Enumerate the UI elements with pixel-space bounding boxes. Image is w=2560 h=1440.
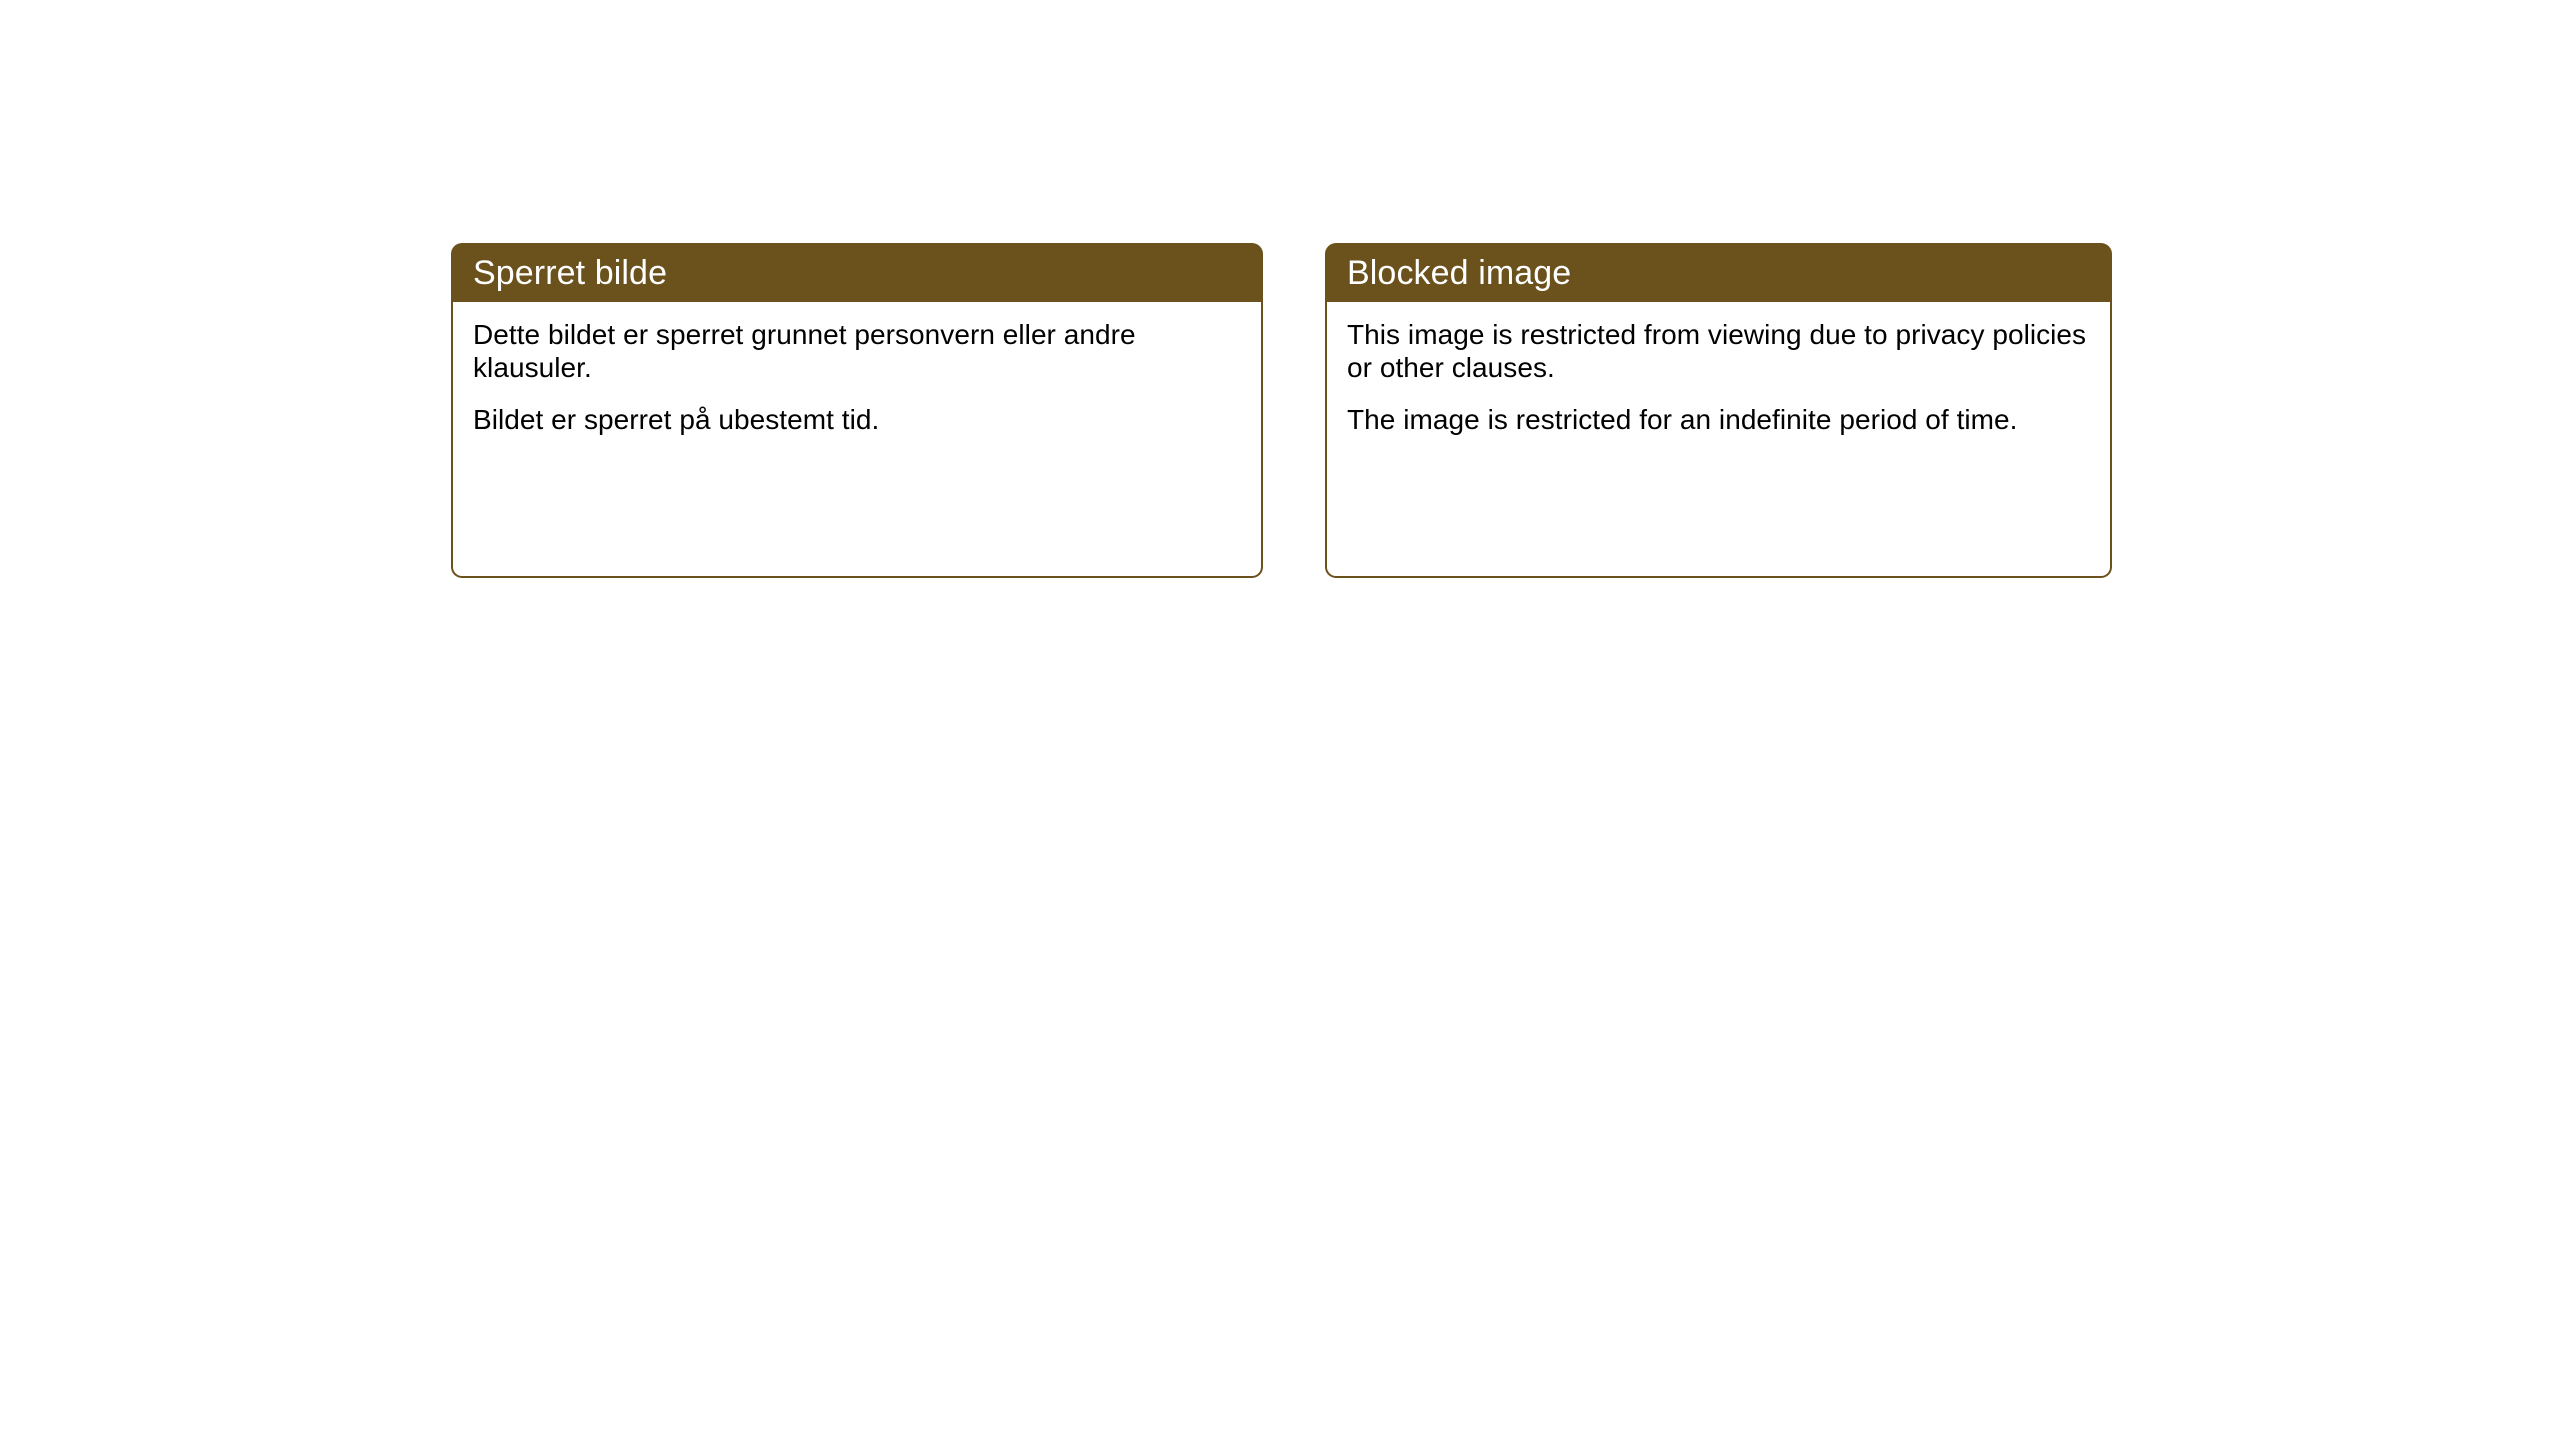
paragraph-spacer-english <box>1347 384 2090 403</box>
panel-body-english: This image is restricted from viewing du… <box>1325 302 2112 578</box>
panel-paragraph-norwegian-1: Dette bildet er sperret grunnet personve… <box>473 318 1241 384</box>
panel-paragraph-english-2: The image is restricted for an indefinit… <box>1347 403 2090 436</box>
panel-header-norwegian: Sperret bilde <box>451 243 1263 302</box>
blocked-image-panel-norwegian: Sperret bilde Dette bildet er sperret gr… <box>451 243 1263 578</box>
panel-paragraph-norwegian-2: Bildet er sperret på ubestemt tid. <box>473 403 1241 436</box>
panel-body-norwegian: Dette bildet er sperret grunnet personve… <box>451 302 1263 578</box>
paragraph-spacer-norwegian <box>473 384 1241 403</box>
panel-title-norwegian: Sperret bilde <box>473 253 667 293</box>
panel-paragraph-english-1: This image is restricted from viewing du… <box>1347 318 2090 384</box>
page-canvas: Sperret bilde Dette bildet er sperret gr… <box>0 0 2560 1440</box>
panel-title-english: Blocked image <box>1347 253 1571 293</box>
panel-header-english: Blocked image <box>1325 243 2112 302</box>
blocked-image-panel-english: Blocked image This image is restricted f… <box>1325 243 2112 578</box>
